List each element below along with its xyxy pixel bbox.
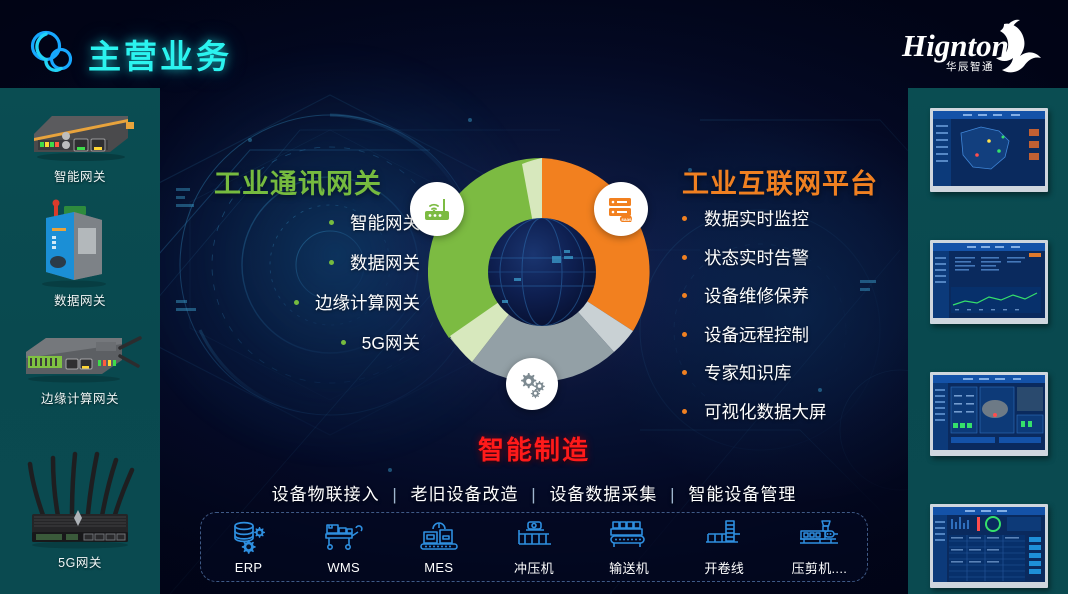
edge-computing-gateway-device-photo [12,326,148,386]
bullet-dot-icon [682,293,687,298]
sidebar-item-smart-gateway[interactable]: 智能网关 [0,102,160,185]
circles-logo-icon [28,28,78,76]
app-label: 压剪机.... [776,558,862,577]
sidebar-left-label: 智能网关 [0,166,160,185]
application-bar: ERP WMS [200,512,868,582]
subtitle-item: 设备数据采集 [549,485,657,504]
sidebar-left-label: 5G网关 [0,552,160,571]
page-title: 主营业务 [88,30,232,78]
bullet-dot-icon [682,216,687,221]
brand-subtitle: 华辰智通 [946,60,994,73]
list-item-label: 专家知识库 [704,360,792,385]
brand-name: Hignton [901,28,1009,63]
sidebar-left-label: 边缘计算网关 [0,388,160,407]
bullet-dot-icon [329,260,334,265]
sidebar-right [908,88,1068,594]
app-item-erp[interactable]: ERP [206,519,292,575]
app-label: 冲压机 [491,558,577,577]
list-item-label: 5G网关 [362,330,420,355]
sidebar-left-label: 数据网关 [0,290,160,309]
list-item-label: 设备远程控制 [704,322,809,347]
header: 主营业务 Hignton 华辰智通 [0,0,1068,88]
wifi-router-icon [421,193,453,225]
app-item-wms[interactable]: WMS [301,519,387,575]
list-item: 可视化数据大屏 [682,399,902,424]
app-item-conveyor[interactable]: 输送机 [586,517,672,577]
list-item: 智能网关 [210,210,420,235]
list-item: 设备维修保养 [682,283,902,308]
app-label: 开卷线 [681,558,767,577]
conveyor-crane-icon [417,520,461,554]
column-right-heading: 工业互联网平台 [682,162,878,201]
table-dashboard-thumb [933,507,1045,582]
stamping-press-icon [512,518,556,552]
gears-icon [517,369,547,399]
app-label: WMS [301,560,387,575]
app-item-stamping-press[interactable]: 冲压机 [491,517,577,577]
sidebar-item-edge-gateway[interactable]: 边缘计算网关 [0,326,160,407]
subtitle-item: 设备物联接入 [272,485,380,504]
slide-root: 主营业务 Hignton 华辰智通 [0,0,1068,594]
sidebar-item-data-gateway[interactable]: 数据网关 [0,198,160,309]
subtitle-separator: | [670,485,675,504]
list-item-label: 边缘计算网关 [315,290,420,315]
app-item-uncoiling-line[interactable]: 开卷线 [681,517,767,577]
data-gateway-device-photo [16,198,144,288]
list-item: 数据网关 [210,250,420,275]
list-item: 边缘计算网关 [210,290,420,315]
list-item: 状态实时告警 [682,245,902,270]
smart-manufacturing-subtitle: 设备物联接入 | 老旧设备改造 | 设备数据采集 | 智能设备管理 [0,480,1068,505]
subtitle-separator: | [392,485,397,504]
smart-gateway-device-photo [16,102,144,164]
list-item: 数据实时监控 [682,206,902,231]
sidebar-left: 智能网关 数据网关 [0,88,160,594]
list-item-label: 设备维修保养 [704,283,809,308]
list-item: 设备远程控制 [682,322,902,347]
app-item-mes[interactable]: MES [396,519,482,575]
database-gear-icon [230,520,268,554]
list-item-label: 状态实时告警 [704,245,809,270]
conveyor-belt-icon [606,518,652,552]
bullet-dot-icon [682,409,687,414]
svg-text:saas: saas [621,217,632,222]
dashboard-trend-screenshot[interactable] [930,240,1048,324]
trend-dashboard-thumb [933,243,1045,318]
warehouse-cart-icon [322,520,366,554]
donut-badge-gateway[interactable] [410,182,464,236]
bullet-dot-icon [682,332,687,337]
dashboard-map-screenshot[interactable] [930,108,1048,192]
app-label: MES [396,560,482,575]
brand-logo: Hignton 华辰智通 [896,16,1046,78]
uncoiling-line-icon [702,518,746,552]
bullet-dot-icon [294,300,299,305]
list-item: 专家知识库 [682,360,902,385]
subtitle-item: 老旧设备改造 [411,485,519,504]
bullet-dot-icon [341,340,346,345]
dashboard-table-screenshot[interactable] [930,504,1048,588]
list-item-label: 数据实时监控 [704,206,809,231]
list-item: 5G网关 [210,330,420,355]
donut-badge-manufacturing[interactable] [506,358,558,410]
column-left-heading: 工业通讯网关 [214,162,382,201]
donut-badge-platform[interactable]: saas [594,182,648,236]
bullet-dot-icon [682,370,687,375]
list-item-label: 可视化数据大屏 [704,399,827,424]
shearing-machine-icon [796,518,842,552]
list-item-label: 数据网关 [350,250,420,275]
server-saas-icon: saas [605,193,637,225]
subtitle-separator: | [531,485,536,504]
column-right-list: 数据实时监控 状态实时告警 设备维修保养 设备远程控制 专家知识库 可视化数据大… [682,206,902,437]
subtitle-item: 智能设备管理 [688,485,796,504]
app-label: 输送机 [586,558,672,577]
app-label: ERP [206,560,292,575]
smart-manufacturing-title: 智能制造 [0,430,1068,467]
app-item-shearing-machine[interactable]: 压剪机.... [776,517,862,577]
column-left-list: 智能网关 数据网关 边缘计算网关 5G网关 [210,210,420,370]
bullet-dot-icon [682,255,687,260]
bullet-dot-icon [329,220,334,225]
map-dashboard-thumb [933,111,1045,186]
